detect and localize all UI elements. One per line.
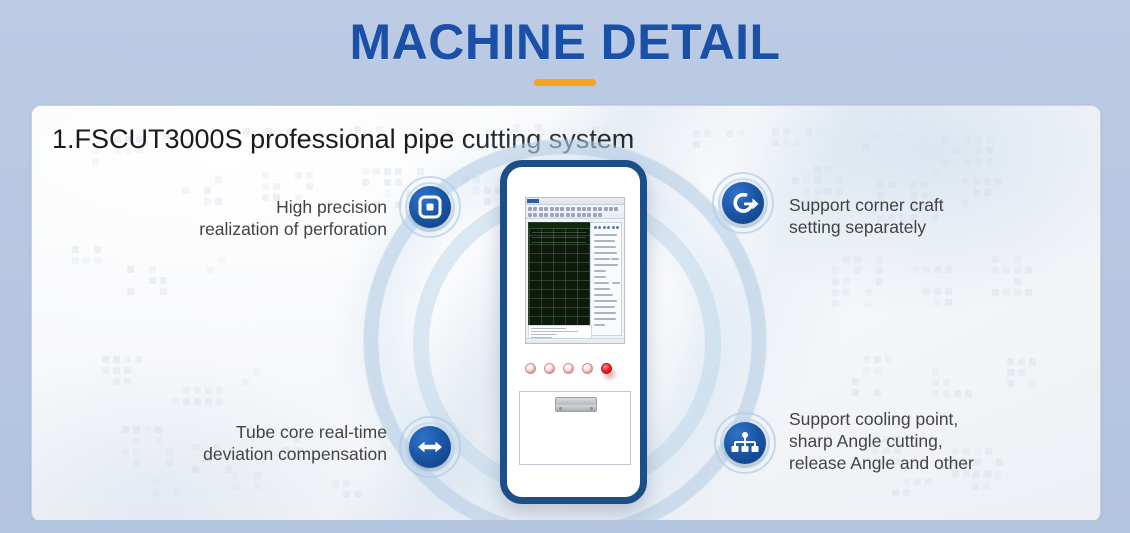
machine-detail-page: MACHINE DETAIL 1.FSCUT3000S professional… <box>0 0 1130 533</box>
feature-label-cooling-point-angle: Support cooling point, sharp Angle cutti… <box>789 408 1044 474</box>
controller-indicator-row <box>525 361 625 375</box>
page-bottom-band <box>0 520 1130 533</box>
page-title: MACHINE DETAIL <box>0 14 1130 70</box>
controller-indicator <box>582 363 593 374</box>
software-toolbar <box>526 205 624 219</box>
controller-indicator <box>601 363 612 374</box>
controller-connector <box>555 397 597 412</box>
controller-indicator <box>563 363 574 374</box>
titlebar-logo <box>527 199 539 203</box>
controller-indicator <box>525 363 536 374</box>
target-square-icon <box>399 176 461 238</box>
feature-label-high-precision-perforation: High precision realization of perforatio… <box>152 196 387 240</box>
software-side-panel <box>590 222 622 336</box>
machine-detail-card: 1.FSCUT3000S professional pipe cutting s… <box>31 105 1101 522</box>
title-accent-bar <box>534 79 596 86</box>
controller-indicator <box>544 363 555 374</box>
controller-screen <box>525 197 625 344</box>
canvas-ruler <box>529 223 591 229</box>
page-header: MACHINE DETAIL <box>0 0 1130 100</box>
software-statusbar <box>526 338 624 343</box>
feature-label-corner-craft-setting: Support corner craft setting separately <box>789 194 1039 238</box>
software-drawing-canvas <box>528 222 592 327</box>
software-titlebar <box>526 198 624 205</box>
double-arrow-icon <box>399 416 461 478</box>
controller-lower-panel <box>519 391 631 465</box>
pipe-cutting-controller <box>500 160 647 504</box>
circular-arrow-icon <box>712 172 774 234</box>
feature-label-tube-core-deviation: Tube core real-time deviation compensati… <box>152 421 387 465</box>
hierarchy-nodes-icon <box>714 412 776 474</box>
